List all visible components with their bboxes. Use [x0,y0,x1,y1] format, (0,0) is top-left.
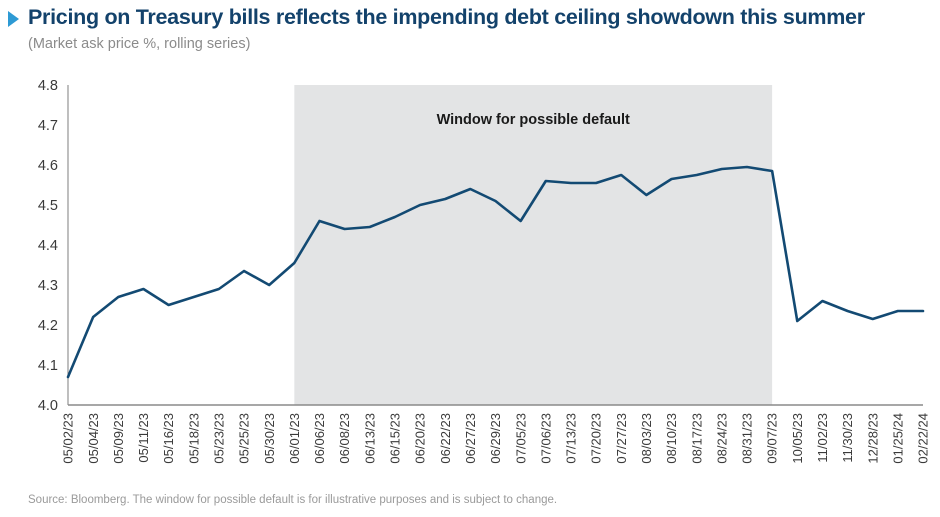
x-axis-tick-label: 06/29/23 [488,413,503,464]
x-axis-tick-label: 05/25/23 [237,413,252,464]
x-axis-tick-group: 05/02/2305/04/2305/09/2305/11/2305/16/23… [61,413,931,464]
y-axis-tick-label: 4.1 [38,358,58,374]
x-axis-tick-label: 08/31/23 [740,413,755,464]
x-axis-tick-label: 05/04/23 [86,413,101,464]
x-axis-tick-label: 11/02/23 [815,413,830,463]
shaded-band-group [294,85,772,405]
chart-subtitle: (Market ask price %, rolling series) [28,36,250,52]
triangle-right-icon [8,11,19,27]
x-axis-tick-label: 08/10/23 [664,413,679,464]
x-axis-tick-label: 07/27/23 [614,413,629,464]
y-axis-tick-label: 4.0 [38,398,58,414]
x-axis-tick-label: 02/22/24 [916,413,931,464]
chart-plot-area: 4.04.14.24.34.44.54.64.74.8 05/02/2305/0… [0,66,940,466]
x-axis-tick-label: 06/01/23 [287,413,302,464]
x-axis-tick-label: 07/05/23 [513,413,528,464]
x-axis-tick-label: 05/16/23 [161,413,176,464]
x-axis-tick-label: 05/09/23 [111,413,126,464]
x-axis-tick-label: 05/30/23 [262,413,277,464]
x-axis-tick-label: 06/13/23 [362,413,377,464]
x-axis-tick-label: 09/07/23 [765,413,780,464]
x-axis-tick-label: 08/24/23 [714,413,729,464]
title-row: Pricing on Treasury bills reflects the i… [8,5,865,30]
x-axis-tick-label: 05/11/23 [136,413,151,463]
x-axis-tick-label: 01/25/24 [890,413,905,464]
source-note: Source: Bloomberg. The window for possib… [28,494,557,506]
y-axis-tick-label: 4.2 [38,318,58,334]
page-title: Pricing on Treasury bills reflects the i… [28,5,865,30]
y-axis-tick-label: 4.3 [38,278,58,294]
y-axis-tick-label: 4.4 [38,238,58,254]
x-axis-tick-label: 06/22/23 [438,413,453,464]
x-axis-tick-label: 07/06/23 [538,413,553,464]
y-axis-tick-label: 4.5 [38,198,58,214]
shaded-band-rect [294,85,772,405]
x-axis-tick-label: 06/27/23 [463,413,478,464]
y-axis-tick-label: 4.8 [38,78,58,94]
x-axis-tick-label: 06/08/23 [337,413,352,464]
x-axis-tick-label: 05/23/23 [211,413,226,464]
x-axis-tick-label: 08/03/23 [639,413,654,464]
x-axis-tick-label: 11/30/23 [840,413,855,463]
band-annotation-group: Window for possible default [437,112,630,128]
x-axis-tick-label: 06/15/23 [388,413,403,464]
y-axis-tick-label: 4.6 [38,158,58,174]
x-axis-tick-label: 10/05/23 [790,413,805,464]
line-chart-svg: 4.04.14.24.34.44.54.64.74.8 05/02/2305/0… [0,66,940,466]
x-axis-tick-label: 06/06/23 [312,413,327,464]
x-axis-tick-label: 07/13/23 [564,413,579,464]
x-axis-tick-label: 05/18/23 [186,413,201,464]
y-axis-tick-group: 4.04.14.24.34.44.54.64.74.8 [38,78,58,414]
chart-header: Pricing on Treasury bills reflects the i… [0,0,940,66]
x-axis-tick-label: 05/02/23 [61,413,76,464]
x-axis-tick-label: 12/28/23 [865,413,880,464]
x-axis-tick-label: 06/20/23 [413,413,428,464]
y-axis-tick-label: 4.7 [38,118,58,134]
band-annotation-label: Window for possible default [437,112,630,128]
x-axis-tick-label: 07/20/23 [589,413,604,464]
x-axis-tick-label: 08/17/23 [689,413,704,464]
